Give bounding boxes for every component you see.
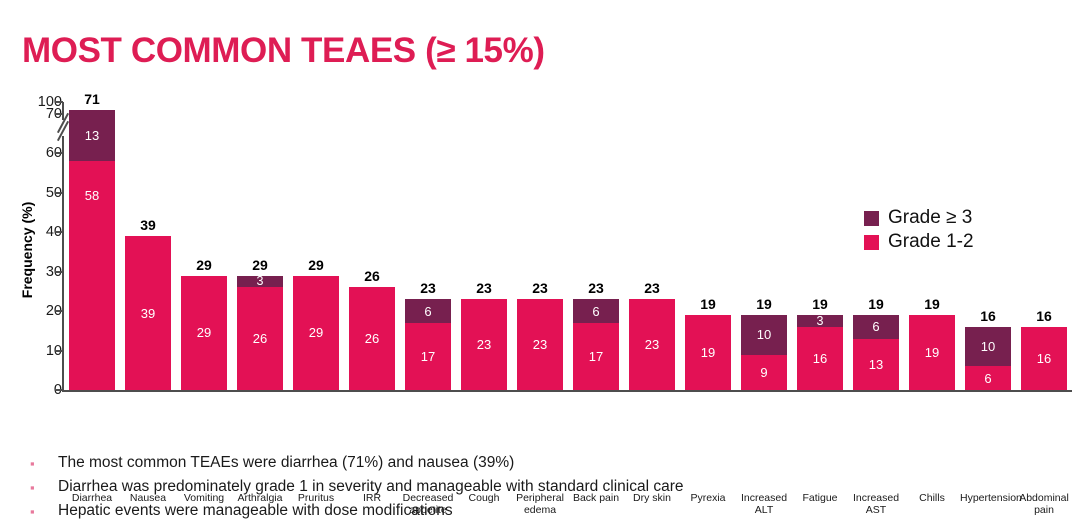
bar-total-label: 19 — [909, 296, 955, 312]
bar-stack[interactable]: 23617 — [405, 299, 451, 390]
y-tick-mark — [56, 152, 63, 154]
bar-total-label: 16 — [1021, 308, 1067, 324]
segment-value-label: 6 — [984, 372, 991, 385]
bar-total-label: 29 — [237, 257, 283, 273]
bar-slot[interactable]: 19109 — [736, 102, 792, 390]
teae-bar-chart: Frequency (%) 010203040506070100 7113583… — [0, 94, 1080, 444]
segment-value-label: 6 — [592, 305, 599, 318]
bullet-text: Diarrhea was predominately grade 1 in se… — [58, 476, 684, 498]
segment-value-label: 6 — [424, 305, 431, 318]
bar-segment-grade-1-2[interactable]: 17 — [405, 323, 451, 390]
bar-slot[interactable]: 29326 — [232, 102, 288, 390]
segment-value-label: 26 — [253, 332, 267, 345]
page-title: MOST COMMON TEAES (≥ 15%) — [22, 31, 545, 71]
bar-segment-grade-1-2[interactable]: 26 — [237, 287, 283, 390]
bullet-item: ▪Hepatic events were manageable with dos… — [30, 500, 1050, 524]
bar-segment-grade-1-2[interactable]: 17 — [573, 323, 619, 390]
bar-total-label: 23 — [629, 280, 675, 296]
bullet-marker-icon: ▪ — [30, 486, 40, 490]
bar-stack[interactable]: 1919 — [685, 315, 731, 390]
segment-value-label: 10 — [981, 340, 995, 353]
bar-segment-grade-ge-3[interactable]: 10 — [741, 315, 787, 354]
segment-value-label: 6 — [872, 320, 879, 333]
legend-swatch-icon — [864, 211, 879, 226]
slide-root: MOST COMMON TEAES (≥ 15%) Frequency (%) … — [0, 0, 1080, 527]
legend-label: Grade ≥ 3 — [888, 207, 972, 229]
bar-stack[interactable]: 2323 — [629, 299, 675, 390]
segment-value-label: 16 — [1037, 352, 1051, 365]
bar-segment-grade-1-2[interactable]: 16 — [797, 327, 843, 390]
bullet-text: Hepatic events were manageable with dose… — [58, 500, 453, 522]
bar-total-label: 19 — [685, 296, 731, 312]
segment-value-label: 19 — [925, 346, 939, 359]
bar-stack[interactable]: 19109 — [741, 315, 787, 390]
bar-stack[interactable]: 2929 — [181, 276, 227, 390]
segment-value-label: 23 — [533, 338, 547, 351]
bar-segment-grade-1-2[interactable]: 39 — [125, 236, 171, 390]
bar-slot[interactable]: 2929 — [288, 102, 344, 390]
segment-value-label: 29 — [309, 326, 323, 339]
bar-total-label: 23 — [573, 280, 619, 296]
bar-total-label: 71 — [69, 91, 115, 107]
bar-segment-grade-ge-3[interactable]: 13 — [69, 110, 115, 161]
bar-slot[interactable]: 1616 — [1016, 102, 1072, 390]
segment-value-label: 9 — [760, 366, 767, 379]
bar-slot[interactable]: 23617 — [568, 102, 624, 390]
segment-value-label: 17 — [421, 350, 435, 363]
bar-stack[interactable]: 2929 — [293, 276, 339, 390]
bullet-marker-icon: ▪ — [30, 462, 40, 466]
bar-total-label: 23 — [461, 280, 507, 296]
bar-segment-grade-1-2[interactable]: 29 — [181, 276, 227, 390]
segment-value-label: 19 — [701, 346, 715, 359]
bar-slot[interactable]: 19316 — [792, 102, 848, 390]
bar-slot[interactable]: 1919 — [680, 102, 736, 390]
segment-value-label: 13 — [869, 358, 883, 371]
bar-segment-grade-ge-3[interactable]: 6 — [405, 299, 451, 323]
bar-stack[interactable]: 19316 — [797, 315, 843, 390]
bar-segment-grade-ge-3[interactable]: 3 — [237, 276, 283, 288]
bar-segment-grade-1-2[interactable]: 29 — [293, 276, 339, 390]
segment-value-label: 13 — [85, 129, 99, 142]
segment-value-label: 29 — [197, 326, 211, 339]
segment-value-label: 3 — [817, 315, 824, 328]
bar-total-label: 29 — [181, 257, 227, 273]
bar-total-label: 19 — [797, 296, 843, 312]
bar-total-label: 23 — [517, 280, 563, 296]
bar-segment-grade-1-2[interactable]: 13 — [853, 339, 899, 390]
legend-item[interactable]: Grade ≥ 3 — [864, 206, 974, 230]
bar-segment-grade-1-2[interactable]: 58 — [69, 161, 115, 390]
bar-stack[interactable]: 23617 — [573, 299, 619, 390]
bar-total-label: 19 — [853, 296, 899, 312]
y-tick-mark — [56, 389, 63, 391]
bar-stack[interactable]: 2323 — [461, 299, 507, 390]
bar-total-label: 23 — [405, 280, 451, 296]
segment-value-label: 26 — [365, 332, 379, 345]
bar-total-label: 19 — [741, 296, 787, 312]
bullet-list: ▪The most common TEAEs were diarrhea (71… — [30, 452, 1050, 524]
bar-slot[interactable]: 2626 — [344, 102, 400, 390]
bullet-marker-icon: ▪ — [30, 510, 40, 514]
bar-slot[interactable]: 2323 — [512, 102, 568, 390]
bar-slot[interactable]: 711358 — [64, 102, 120, 390]
y-tick-mark — [56, 192, 63, 194]
y-tick-mark — [56, 113, 63, 115]
bar-slot[interactable]: 2323 — [624, 102, 680, 390]
segment-value-label: 39 — [141, 307, 155, 320]
bar-segment-grade-1-2[interactable]: 23 — [517, 299, 563, 390]
y-axis-ticks: 010203040506070100 — [12, 94, 62, 394]
segment-value-label: 16 — [813, 352, 827, 365]
segment-value-label: 17 — [589, 350, 603, 363]
segment-value-label: 3 — [257, 275, 264, 288]
bar-segment-grade-1-2[interactable]: 23 — [461, 299, 507, 390]
segment-value-label: 10 — [757, 328, 771, 341]
bar-segment-grade-ge-3[interactable]: 10 — [965, 327, 1011, 366]
y-tick-mark — [56, 231, 63, 233]
y-tick-mark — [56, 101, 63, 103]
y-tick-mark — [56, 271, 63, 273]
bar-slot[interactable]: 2323 — [456, 102, 512, 390]
bar-stack[interactable]: 3939 — [125, 236, 171, 390]
segment-value-label: 23 — [477, 338, 491, 351]
bar-total-label: 26 — [349, 268, 395, 284]
legend-label: Grade 1-2 — [888, 231, 974, 253]
bar-total-label: 16 — [965, 308, 1011, 324]
bar-stack[interactable]: 16106 — [965, 327, 1011, 390]
bar-stack[interactable]: 1919 — [909, 315, 955, 390]
bar-segment-grade-1-2[interactable]: 6 — [965, 366, 1011, 390]
bar-segment-grade-ge-3[interactable]: 3 — [797, 315, 843, 327]
bar-segment-grade-ge-3[interactable]: 6 — [853, 315, 899, 339]
bar-stack[interactable]: 2323 — [517, 299, 563, 390]
bar-slot[interactable]: 23617 — [400, 102, 456, 390]
segment-value-label: 23 — [645, 338, 659, 351]
legend-item[interactable]: Grade 1-2 — [864, 230, 974, 254]
bar-stack[interactable]: 2626 — [349, 287, 395, 390]
bullet-item: ▪Diarrhea was predominately grade 1 in s… — [30, 476, 1050, 500]
bar-total-label: 39 — [125, 217, 171, 233]
bar-stack[interactable]: 1616 — [1021, 327, 1067, 390]
bar-segment-grade-1-2[interactable]: 23 — [629, 299, 675, 390]
bar-slot[interactable]: 2929 — [176, 102, 232, 390]
bullet-text: The most common TEAEs were diarrhea (71%… — [58, 452, 514, 474]
y-tick-mark — [56, 350, 63, 352]
legend-swatch-icon — [864, 235, 879, 250]
chart-legend: Grade ≥ 3Grade 1-2 — [864, 206, 974, 254]
bar-stack[interactable]: 711358 — [69, 110, 115, 390]
bar-segment-grade-1-2[interactable]: 19 — [685, 315, 731, 390]
y-tick-mark — [56, 310, 63, 312]
bar-slot[interactable]: 3939 — [120, 102, 176, 390]
bar-segment-grade-1-2[interactable]: 16 — [1021, 327, 1067, 390]
bar-stack[interactable]: 19613 — [853, 315, 899, 390]
bar-segment-grade-1-2[interactable]: 9 — [741, 355, 787, 391]
bar-stack[interactable]: 29326 — [237, 276, 283, 390]
bar-total-label: 29 — [293, 257, 339, 273]
bar-segment-grade-1-2[interactable]: 26 — [349, 287, 395, 390]
bar-segment-grade-1-2[interactable]: 19 — [909, 315, 955, 390]
segment-value-label: 58 — [85, 189, 99, 202]
bullet-item: ▪The most common TEAEs were diarrhea (71… — [30, 452, 1050, 476]
x-axis-line — [62, 390, 1072, 392]
bar-segment-grade-ge-3[interactable]: 6 — [573, 299, 619, 323]
